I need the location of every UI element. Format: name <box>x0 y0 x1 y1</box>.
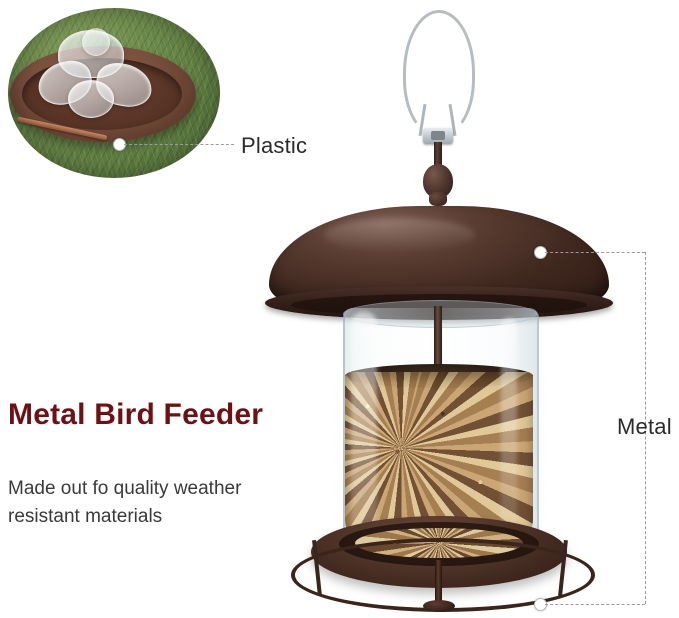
hanger-wire-loop <box>403 10 475 136</box>
glass-highlight-left <box>351 312 377 552</box>
hanger-clip-slot <box>431 131 445 140</box>
plastic-closeup-inset <box>8 8 220 178</box>
callout-line-metal-bottom <box>545 604 645 605</box>
finial-neck <box>429 192 447 206</box>
glass-highlight-right <box>501 318 517 544</box>
roof-highlight <box>325 218 475 252</box>
callout-line-plastic <box>124 144 234 145</box>
page-title: Metal Bird Feeder <box>8 398 263 432</box>
bird-feeder-illustration <box>255 0 655 618</box>
bottom-finial <box>423 600 455 612</box>
inset-vignette <box>8 8 220 178</box>
product-infographic-canvas: Plastic Metal Bird Feeder Made out fo qu… <box>0 0 679 618</box>
callout-label-metal: Metal <box>617 414 672 440</box>
callout-line-metal-top <box>545 252 645 253</box>
